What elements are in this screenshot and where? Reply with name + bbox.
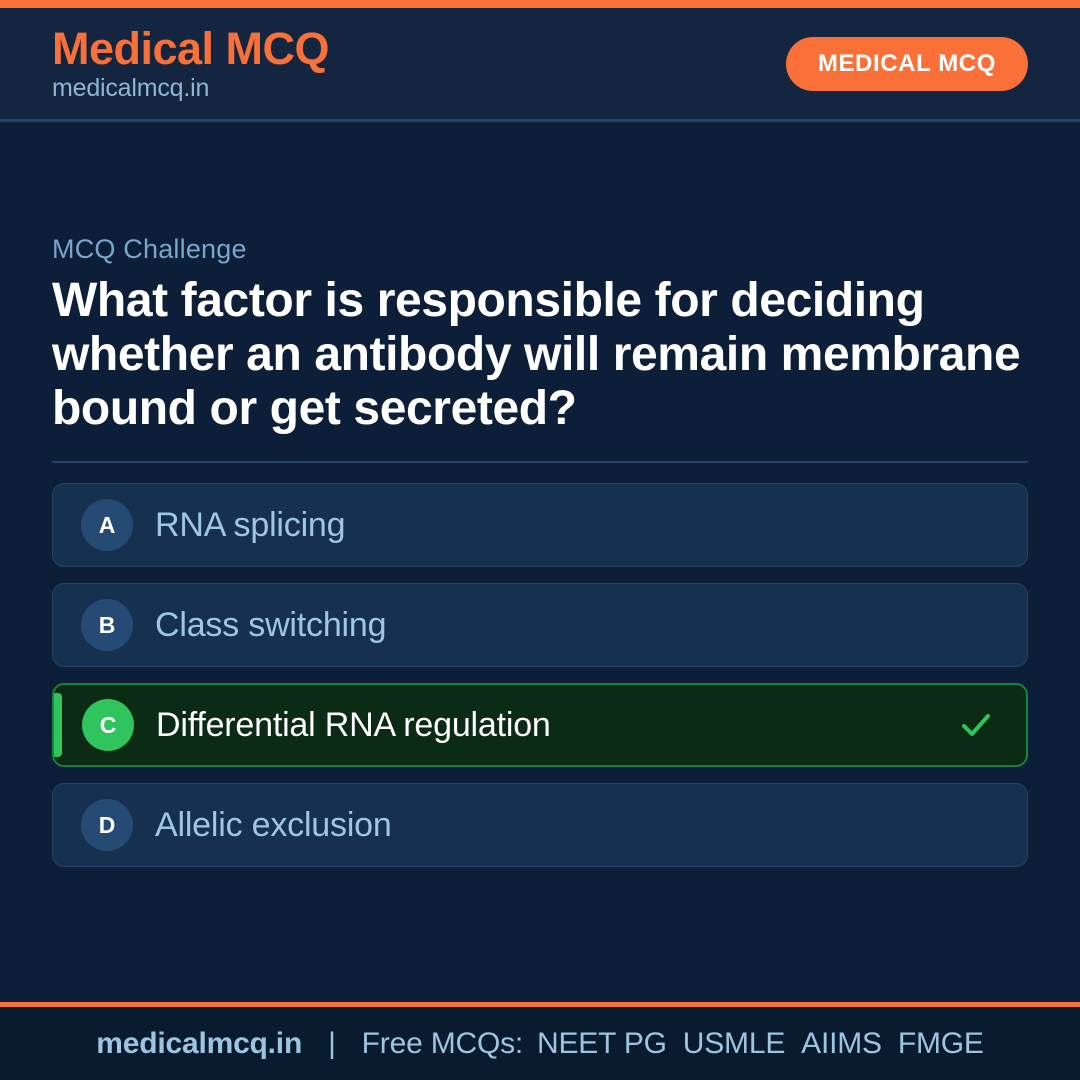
option-b[interactable]: B Class switching (52, 583, 1028, 667)
option-letter-badge: C (82, 699, 134, 751)
brand-block: Medical MCQ medicalmcq.in (52, 25, 329, 102)
top-accent-bar (0, 0, 1080, 8)
brand-subtitle: medicalmcq.in (52, 75, 329, 103)
footer-exam-aiims[interactable]: AIIMS (801, 1027, 882, 1061)
option-letter-badge: D (81, 799, 133, 851)
option-d[interactable]: D Allelic exclusion (52, 783, 1028, 867)
footer-separator: | (328, 1027, 336, 1061)
footer-label: Free MCQs: (362, 1027, 523, 1061)
app-header: Medical MCQ medicalmcq.in MEDICAL MCQ (0, 8, 1080, 122)
question-text: What factor is responsible for deciding … (52, 274, 1028, 435)
brand-title: Medical MCQ (52, 25, 329, 73)
option-c[interactable]: C Differential RNA regulation (52, 683, 1028, 767)
option-letter-badge: A (81, 499, 133, 551)
option-letter-badge: B (81, 599, 133, 651)
footer-content: medicalmcq.in | Free MCQs: NEET PG USMLE… (96, 1027, 983, 1061)
option-a[interactable]: A RNA splicing (52, 483, 1028, 567)
check-icon (954, 703, 998, 747)
option-label: Differential RNA regulation (156, 707, 954, 744)
footer-exam-neet-pg[interactable]: NEET PG (537, 1027, 667, 1061)
options-list: A RNA splicing B Class switching (52, 483, 1028, 867)
footer-exam-usmle[interactable]: USMLE (683, 1027, 785, 1061)
eyebrow-label: MCQ Challenge (52, 234, 1028, 265)
option-label: RNA splicing (155, 507, 999, 544)
page-footer: medicalmcq.in | Free MCQs: NEET PG USMLE… (0, 1002, 1080, 1080)
mcq-card: Medical MCQ medicalmcq.in MEDICAL MCQ MC… (0, 0, 1080, 1080)
main-content: MCQ Challenge What factor is responsible… (0, 122, 1080, 1002)
option-label: Allelic exclusion (155, 807, 999, 844)
option-label: Class switching (155, 607, 999, 644)
footer-exam-fmge[interactable]: FMGE (898, 1027, 984, 1061)
correct-accent-bar (54, 693, 62, 757)
question-divider (52, 461, 1028, 463)
footer-site-link[interactable]: medicalmcq.in (96, 1027, 302, 1061)
header-badge[interactable]: MEDICAL MCQ (786, 37, 1028, 91)
